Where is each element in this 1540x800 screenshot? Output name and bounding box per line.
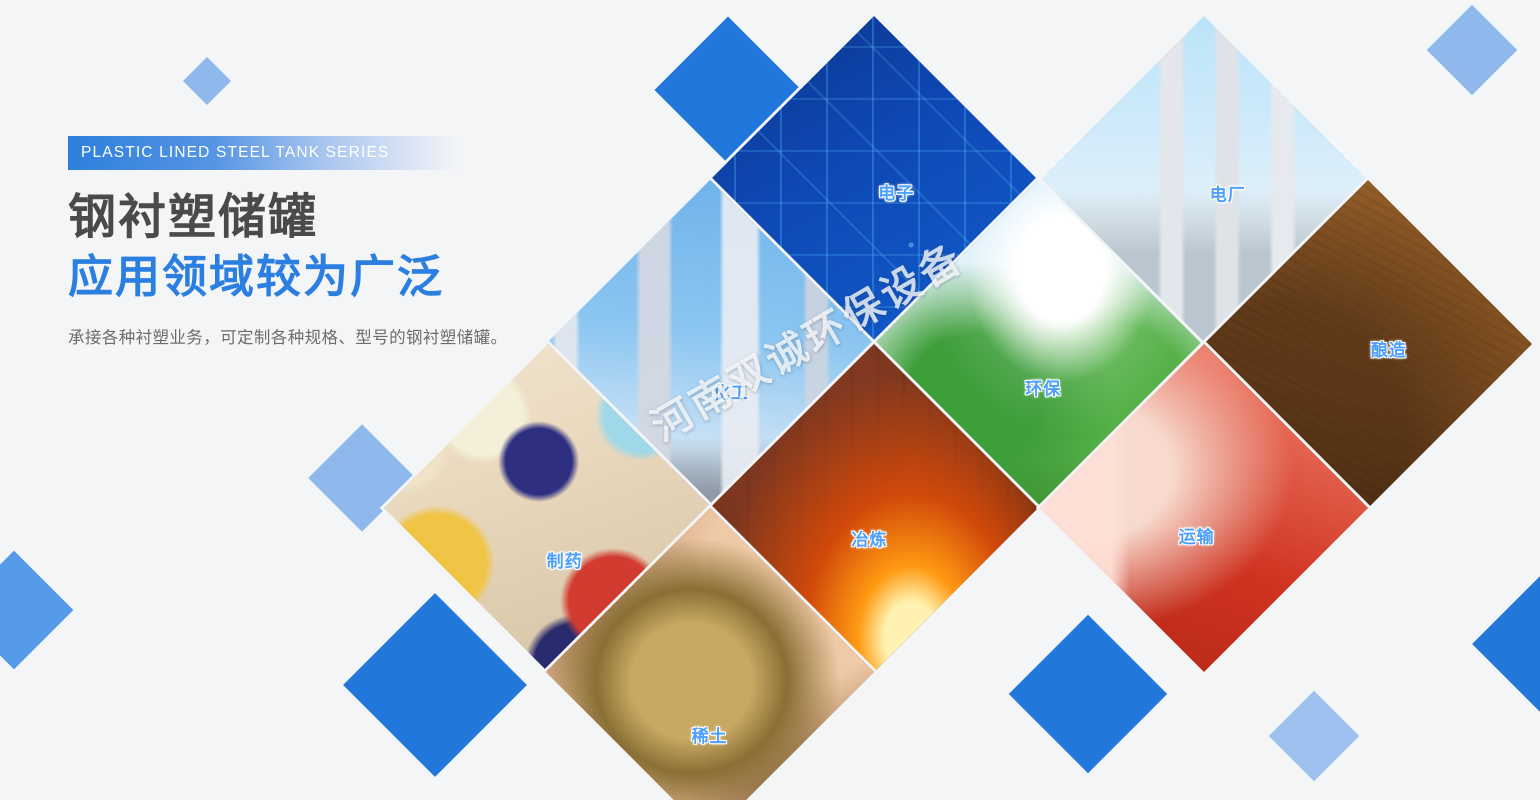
mosaic-tile-label-pharma: 制药	[547, 547, 583, 572]
headline-group: PLASTIC LINED STEEL TANK SERIES 钢衬塑储罐 应用…	[68, 136, 628, 348]
page-description: 承接各种衬塑业务，可定制各种规格、型号的钢衬塑储罐。	[68, 324, 628, 348]
eyebrow-text: PLASTIC LINED STEEL TANK SERIES	[81, 144, 389, 162]
industry-diamond-mosaic: 电子 电厂 化工 环保 酿造 制药 冶炼 运	[470, 0, 1540, 800]
page-subtitle: 应用领域较为广泛	[68, 251, 628, 302]
eyebrow-banner: PLASTIC LINED STEEL TANK SERIES	[68, 136, 458, 170]
mosaic-tile-label-environment: 环保	[1025, 374, 1061, 399]
page-title: 钢衬塑储罐	[68, 191, 628, 245]
mosaic-tile-label-rare-earth: 稀土	[692, 722, 728, 747]
decorative-diamond-mid-left	[0, 551, 73, 670]
mosaic-tile-label-brewing: 酿造	[1371, 336, 1407, 361]
promo-banner: PLASTIC LINED STEEL TANK SERIES 钢衬塑储罐 应用…	[0, 0, 1540, 800]
mosaic-tile-label-transport: 运输	[1179, 523, 1215, 548]
mosaic-tile-label-chemical: 化工	[713, 379, 749, 404]
decorative-diamond-small-top-left	[183, 57, 231, 105]
mosaic-tile-label-smelting: 冶炼	[851, 526, 887, 551]
mosaic-tile-label-power-plant: 电厂	[1210, 181, 1246, 206]
mosaic-tile-label-electronics: 电子	[878, 179, 914, 204]
